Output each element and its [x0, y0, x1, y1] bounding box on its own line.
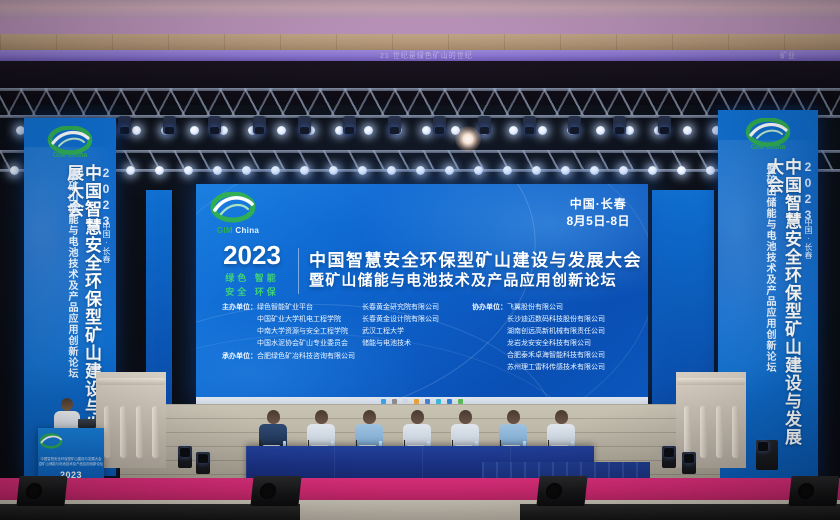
gim-logo-icon — [38, 433, 64, 451]
screen-gim-logo: GIM China — [210, 192, 266, 238]
moving-head-fixture — [433, 116, 446, 134]
stage-moving-light-5 — [756, 440, 778, 470]
lighting-truss-upper — [0, 88, 840, 118]
banner-left-location: 中国·长春 — [101, 222, 112, 263]
stage-moving-light-1 — [178, 446, 192, 468]
panelist-head — [555, 410, 568, 424]
moving-head-fixture — [343, 116, 356, 134]
moving-head-fixture — [118, 116, 131, 134]
stage-lamp-bulb — [619, 166, 628, 175]
venue-led-ticker-text: 21 世纪是绿色矿山的世纪 — [380, 51, 473, 62]
gim-logo-icon — [210, 192, 256, 226]
stage-lamp-bulb — [706, 166, 715, 175]
ceiling-stone-band — [0, 34, 840, 50]
venue-led-ticker-text-right: 矿业 — [780, 51, 796, 62]
venue-led-ticker: 21 世纪是绿色矿山的世纪 矿业 — [0, 50, 840, 61]
screen-year: 2023 — [210, 242, 294, 268]
stage-lamp-bulb — [184, 166, 193, 175]
main-led-screen: GIM China 中国·长春 8月5日-8日 2023 绿色 智能 安全 环保… — [196, 184, 648, 406]
stage-lamp-bulb — [213, 166, 222, 175]
stage-lamp-bulb — [300, 166, 309, 175]
stage-lamp-bulb — [387, 166, 396, 175]
stage-lamp-bulb — [277, 126, 286, 135]
banner-right-location: 中国·长春 — [803, 218, 814, 259]
stage-lamp-bulb — [190, 126, 199, 135]
balustrade-left — [96, 372, 166, 468]
stage-lamp-bulb — [509, 126, 518, 135]
banner-right-year: 2023 — [801, 160, 815, 224]
conference-stage-photo: 21 世纪是绿色矿山的世纪 矿业 GIM China 中国智慧安全环保型矿山建设… — [0, 0, 840, 520]
stage-lamp-bulb — [683, 126, 692, 135]
stage-lamp-bulb — [10, 166, 19, 175]
banner-left-subtitle: 暨矿山储能与电池技术及产品应用创新论坛 — [66, 170, 77, 420]
key-light-flare — [455, 126, 481, 152]
screen-title-line2: 暨矿山储能与电池技术及产品应用创新论坛 — [309, 271, 642, 291]
banner-right-subtitle: 暨矿山储能与电池技术及产品应用创新论坛 — [764, 164, 775, 426]
stage-lamp-bulb — [503, 166, 512, 175]
stage-moving-light-2 — [196, 452, 210, 474]
moving-head-fixture — [208, 116, 221, 134]
screen-undertaker-row: 承办单位： 合肥绿色矿冶科技咨询有限公司 — [222, 351, 355, 363]
screen-title-row: 2023 绿色 智能 安全 环保 中国智慧安全环保型矿山建设与发展大会 暨矿山储… — [210, 242, 642, 299]
coorganizer-item: 长沙迪迈数码科技股份有限公司 — [507, 314, 605, 326]
screen-title-line1: 中国智慧安全环保型矿山建设与发展大会 — [309, 250, 642, 271]
apron-shadow-right — [520, 504, 840, 520]
stage-lamp-bulb — [648, 166, 657, 175]
floor-monitor-2 — [250, 476, 301, 506]
organizer-item: 中南大学资源与安全工程学院 — [257, 326, 348, 338]
podium-laptop — [78, 419, 96, 428]
coorganizer-label: 协办单位： — [472, 302, 507, 374]
apron-shadow-left — [0, 504, 300, 520]
coorganizer-list: 飞翼股份有限公司长沙迪迈数码科技股份有限公司湖南创远高新机械有限责任公司龙岩龙安… — [507, 302, 605, 374]
organizer-item: 中国矿业大学机电工程学院 — [257, 314, 348, 326]
stage-lamp-bulb — [538, 126, 547, 135]
stage-lamp-bulb — [132, 126, 141, 135]
moving-head-fixture — [658, 116, 671, 134]
organizer-host-col1: 绿色智能矿业平台中国矿业大学机电工程学院中南大学资源与安全工程学院中国水泥协会矿… — [257, 302, 348, 374]
screen-keywords-line2: 安全 环保 — [210, 286, 294, 300]
banner-left-year: 2023 — [99, 166, 113, 230]
screen-location-dates: 中国·长春 8月5日-8日 — [566, 196, 630, 231]
organizer-host-col2: 长春黄金研究院有限公司长春黄金设计院有限公司武汉工程大学储能与电池技术 — [362, 302, 439, 374]
organizer-item: 绿色智能矿业平台 — [257, 302, 348, 314]
gim-abbr: GIM — [217, 226, 233, 235]
stage-lamp-bulb — [532, 166, 541, 175]
moving-head-fixture — [163, 116, 176, 134]
organizer-item: 中国水泥协会矿山专业委员会 — [257, 338, 348, 350]
svg-text:GIM China: GIM China — [751, 144, 786, 151]
stage-moving-light-3 — [662, 446, 676, 468]
screen-keywords-line1: 绿色 智能 — [210, 272, 294, 286]
stage-lamp-bulb — [155, 166, 164, 175]
undertaker-name: 合肥绿色矿冶科技咨询有限公司 — [257, 351, 355, 363]
stage-lamp-bulb — [596, 126, 605, 135]
screen-year-block: 2023 绿色 智能 安全 环保 — [210, 242, 294, 299]
panelist-head — [267, 410, 280, 424]
coorganizer-item: 湖南创远高新机械有限责任公司 — [507, 326, 605, 338]
stage-lamp-bulb — [625, 126, 634, 135]
stage-lamp-bulb — [677, 166, 686, 175]
stage-lamp-bulb — [590, 166, 599, 175]
coorganizer-item: 合肥泰禾卓海智能科技有限公司 — [507, 350, 605, 362]
title-divider — [298, 248, 299, 294]
panelist-head — [363, 410, 376, 424]
stage-lamp-bulb — [271, 166, 280, 175]
stage-moving-light-4 — [682, 452, 696, 474]
floor-monitor-3 — [536, 476, 587, 506]
stage-lamp-bulb — [329, 166, 338, 175]
coorganizer-item: 飞翼股份有限公司 — [507, 302, 605, 314]
screen-keywords: 绿色 智能 安全 环保 — [210, 272, 294, 299]
gim-suffix: China — [235, 226, 259, 235]
coorganizer-item: 龙岩龙安安全科技有限公司 — [507, 338, 605, 350]
moving-head-fixture — [613, 116, 626, 134]
moving-head-fixture — [388, 116, 401, 134]
stage-lamp-bulb — [422, 126, 431, 135]
undertaker-label: 承办单位： — [222, 351, 257, 363]
moving-head-fixture — [523, 116, 536, 134]
organizer-item: 储能与电池技术 — [362, 338, 439, 350]
organizer-host-label: 主办单位： — [222, 302, 257, 374]
moving-head-fixture — [298, 116, 311, 134]
panelist-head — [315, 410, 328, 424]
moving-head-fixture — [253, 116, 266, 134]
moving-head-fixture — [568, 116, 581, 134]
stage-lamp-bulb — [242, 166, 251, 175]
stage-lamp-bulb — [474, 166, 483, 175]
svg-text:GIM China: GIM China — [53, 152, 88, 159]
podium-title-line2: 暨矿山储能与电池技术及产品应用创新论坛 — [38, 462, 104, 467]
stage-lamp-bulb — [416, 166, 425, 175]
panelist-head — [507, 410, 520, 424]
screen-dates: 8月5日-8日 — [566, 213, 630, 230]
stage-lamp-bulb — [126, 166, 135, 175]
panelist-head — [459, 410, 472, 424]
gim-logo-icon: GIM China — [47, 126, 93, 160]
organizer-coorganizer-group: 协办单位： 飞翼股份有限公司长沙迪迈数码科技股份有限公司湖南创远高新机械有限责任… — [472, 302, 636, 374]
stage-lamp-bulb — [364, 126, 373, 135]
floor-monitor-4 — [788, 476, 839, 506]
stage-lamp-bulb — [445, 166, 454, 175]
stage-lamp-bulb — [358, 166, 367, 175]
organizer-item: 武汉工程大学 — [362, 326, 439, 338]
screen-location: 中国·长春 — [566, 196, 630, 213]
organizer-item: 长春黄金研究院有限公司 — [362, 302, 439, 314]
stage-lamp-bulb — [561, 166, 570, 175]
gim-logo-text: GIM China — [210, 226, 266, 235]
organizer-item: 长春黄金设计院有限公司 — [362, 314, 439, 326]
floor-monitor-1 — [16, 476, 67, 506]
coorganizer-item: 苏州理工雷科传感技术有限公司 — [507, 362, 605, 374]
screen-organizers: 主办单位： 绿色智能矿业平台中国矿业大学机电工程学院中南大学资源与安全工程学院中… — [222, 302, 636, 374]
screen-main-title: 中国智慧安全环保型矿山建设与发展大会 暨矿山储能与电池技术及产品应用创新论坛 — [309, 250, 642, 291]
moving-head-fixture — [478, 116, 491, 134]
organizer-host-group: 主办单位： 绿色智能矿业平台中国矿业大学机电工程学院中南大学资源与安全工程学院中… — [222, 302, 472, 374]
panelist-head — [411, 410, 424, 424]
speaker-head — [61, 398, 73, 411]
gim-logo-icon: GIM China — [745, 118, 791, 152]
